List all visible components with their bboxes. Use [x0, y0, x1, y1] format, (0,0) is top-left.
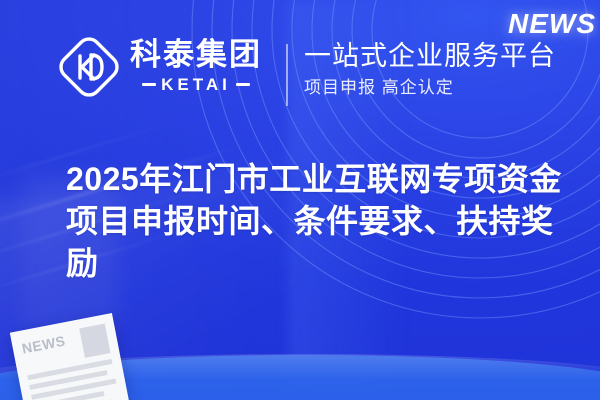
brand-name-chinese: 科泰集团: [130, 39, 262, 72]
brand-name-english: KETAI: [161, 75, 231, 95]
ketai-diamond-kd-monogram-icon: [58, 36, 120, 98]
tagline-secondary: 项目申报 高企认定: [304, 77, 556, 99]
headline-title: 2025年江门市工业互联网专项资金项目申报时间、条件要求、扶持奖励: [66, 158, 574, 284]
brand-logo: 科泰集团 KETAI: [58, 36, 262, 98]
dash-left-icon: [142, 83, 156, 86]
brand-wordmark: 科泰集团 KETAI: [130, 39, 262, 95]
tagline-primary: 一站式企业服务平台: [304, 40, 556, 73]
tagline-block: 一站式企业服务平台 项目申报 高企认定: [304, 40, 556, 99]
news-wordmark: NEWS: [508, 8, 596, 40]
news-banner: 科泰集团 KETAI 一站式企业服务平台 项目申报 高企认定 NEWS 2025…: [0, 0, 600, 400]
dash-right-icon: [236, 83, 250, 86]
image-placeholder-icon: [79, 324, 110, 358]
header-vertical-divider: [286, 44, 288, 106]
news-card-title: NEWS: [20, 332, 66, 356]
brand-name-english-row: KETAI: [130, 75, 262, 95]
